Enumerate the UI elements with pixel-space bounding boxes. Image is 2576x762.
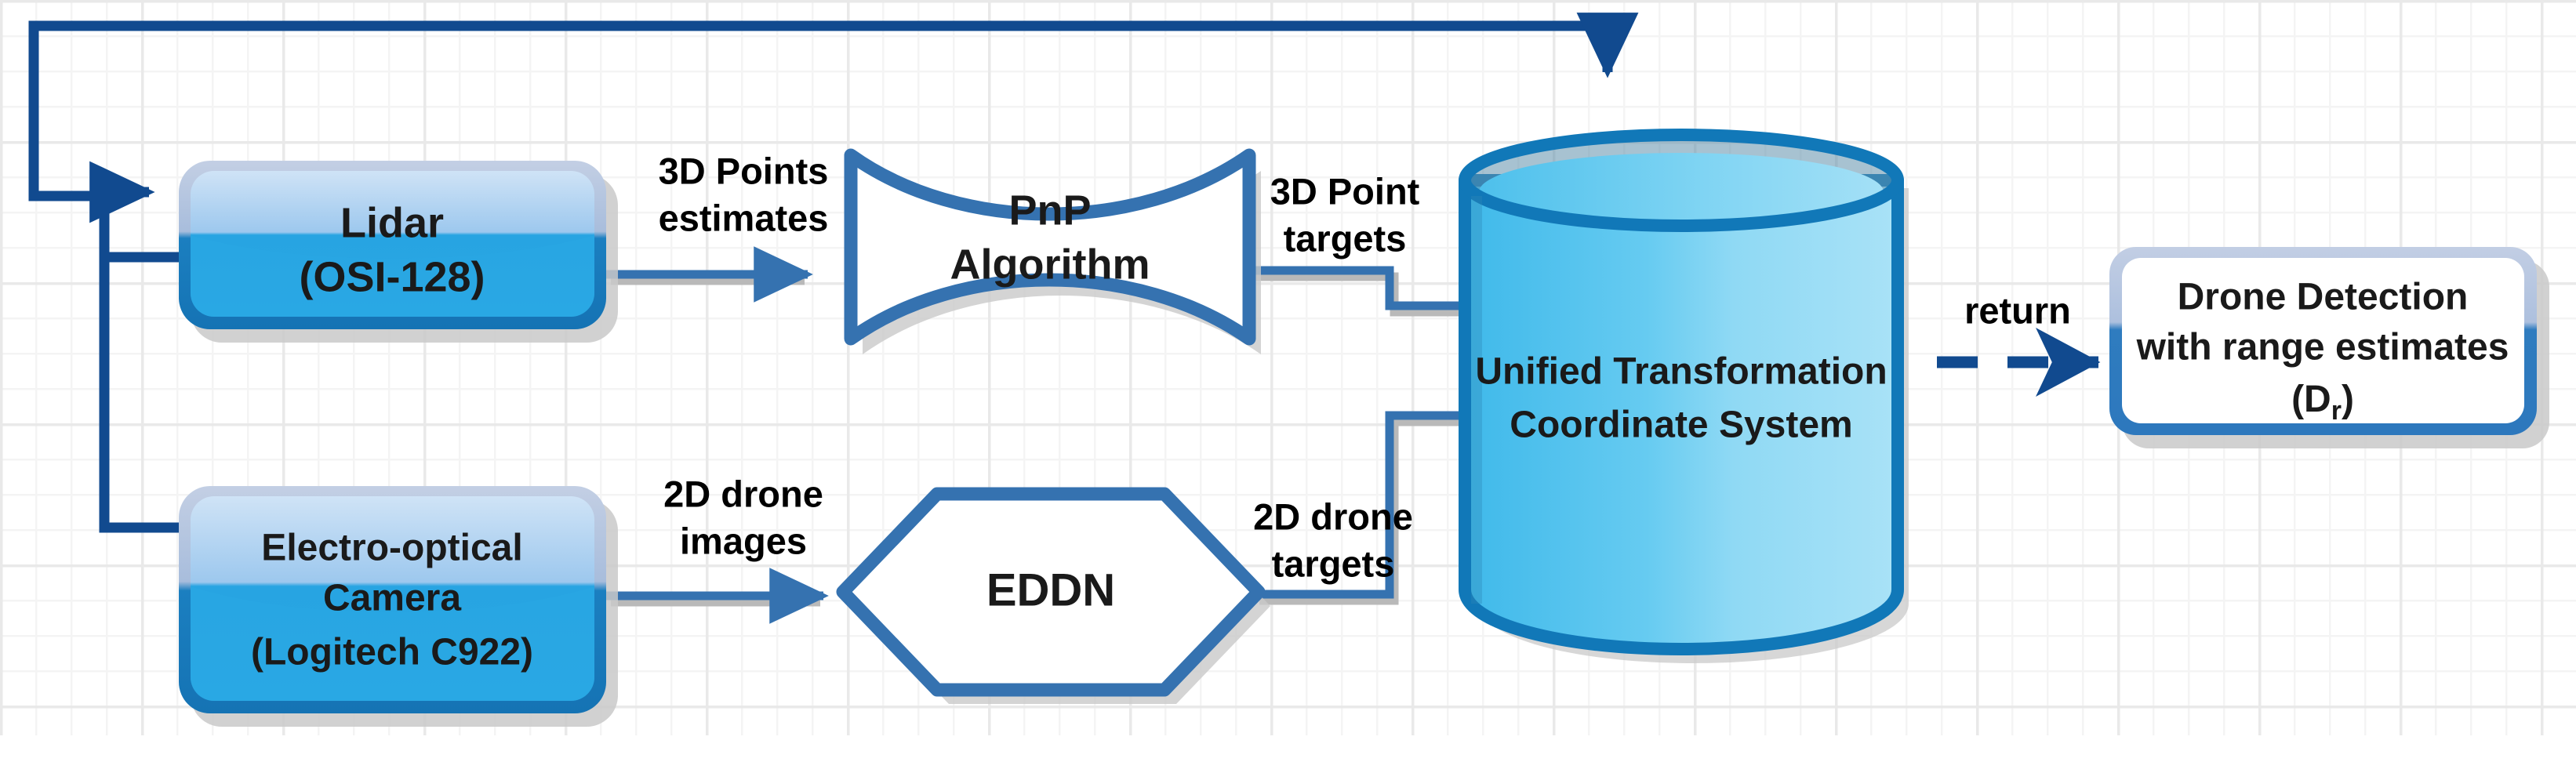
- detection-dr-subscript: r: [2331, 396, 2342, 426]
- unified-label-line-1: Unified Transformation: [1475, 351, 1887, 393]
- edge-lidar-to-pnp: [606, 274, 808, 281]
- lidar-sensor-node[interactable]: Lidar (OSI-128): [179, 161, 618, 343]
- pnp-label-line-2: Algorithm: [950, 241, 1150, 288]
- drone-detection-output-node[interactable]: Drone Detection with range estimates (Dr…: [2109, 247, 2549, 448]
- pnp-label-line-1: PnP: [1008, 187, 1091, 234]
- detection-dr-close: ): [2342, 379, 2354, 420]
- lidar-label-line-1: Lidar: [340, 199, 444, 246]
- edge-label-3d-points-line-1: 3D Points: [659, 150, 829, 191]
- edge-label-2d-targets-line-1: 2D drone: [1253, 495, 1413, 537]
- edge-label-3d-targets-line-1: 3D Point: [1270, 170, 1420, 212]
- detection-label-line-1: Drone Detection: [2178, 277, 2469, 318]
- edge-label-2d-images-line-1: 2D drone: [663, 473, 823, 514]
- lidar-label-line-2: (OSI-128): [299, 253, 485, 300]
- edge-label-return-text: return: [1964, 289, 2071, 331]
- edge-label-3d-targets-line-2: targets: [1284, 217, 1407, 259]
- camera-label-line-3: (Logitech C922): [251, 632, 533, 673]
- camera-label-line-1: Electro-optical: [261, 528, 522, 569]
- edge-camera-to-eddn: [606, 596, 823, 602]
- edge-label-3d-points-line-2: estimates: [659, 197, 829, 238]
- edge-label-2d-targets-line-2: targets: [1272, 542, 1395, 584]
- unified-label-line-2: Coordinate System: [1510, 405, 1852, 446]
- camera-label-line-2: Camera: [323, 578, 461, 619]
- detection-label-line-2: with range estimates: [2136, 327, 2509, 368]
- diagram-canvas: Lidar (OSI-128) Electro-optical Camera (…: [0, 0, 2576, 762]
- detection-label-line-3: (Dr): [2291, 379, 2354, 426]
- eddn-label: EDDN: [986, 564, 1115, 615]
- edge-label-2d-images-line-2: images: [680, 520, 807, 561]
- edge-label-return: return: [1964, 289, 2071, 331]
- electro-optical-camera-node[interactable]: Electro-optical Camera (Logitech C922): [179, 486, 618, 727]
- detection-dr-open: (D: [2291, 379, 2331, 420]
- diagram-svg: Lidar (OSI-128) Electro-optical Camera (…: [0, 0, 2576, 762]
- unified-transformation-coordinate-system-node[interactable]: Unified Transformation Coordinate System: [1465, 135, 1909, 663]
